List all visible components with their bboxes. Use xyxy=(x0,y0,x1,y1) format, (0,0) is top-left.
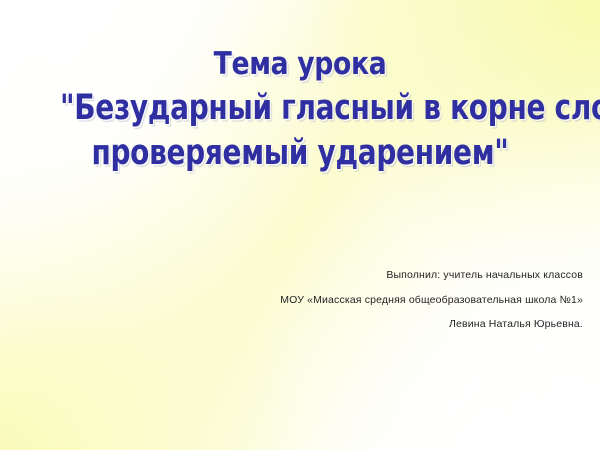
presentation-slide: Тема урока "Безударный гласный в корне с… xyxy=(0,0,600,450)
credits-author-role: Выполнил: учитель начальных классов xyxy=(23,270,583,281)
slide-title-block: Тема урока "Безударный гласный в корне с… xyxy=(0,49,600,171)
credits-school-name: МОУ «Миасская средняя общеобразовательна… xyxy=(23,295,583,306)
slide-title-line-1: Тема урока xyxy=(42,49,558,80)
credits-author-name: Левина Наталья Юрьевна. xyxy=(23,319,583,330)
slide-title-line-3: проверяемый ударением" xyxy=(60,136,540,171)
slide-title-line-2: "Безударный гласный в корне слова, xyxy=(60,91,540,126)
slide-credits-block: Выполнил: учитель начальных классов МОУ … xyxy=(23,270,583,330)
